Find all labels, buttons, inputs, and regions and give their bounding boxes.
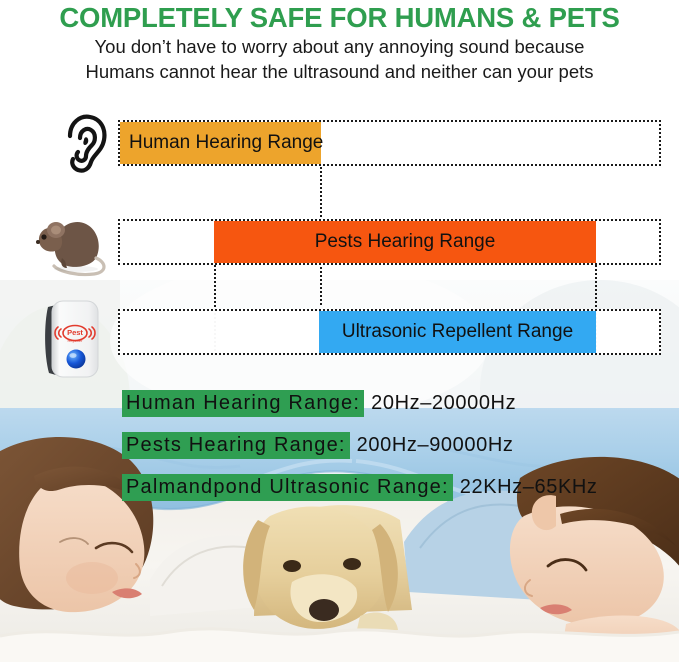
legend-value-human: 20Hz–20000Hz: [364, 392, 516, 414]
legend-value-ultrasonic: 22KHz–65KHz: [453, 476, 598, 498]
legend-row-pests: Pests Hearing Range:200Hz–90000Hz: [122, 434, 513, 457]
legend-label-ultrasonic: Palmandpond Ultrasonic Range:: [122, 474, 453, 501]
legend-row-human: Human Hearing Range:20Hz–20000Hz: [122, 392, 516, 415]
legend: Human Hearing Range:20Hz–20000Hz Pests H…: [0, 0, 679, 520]
legend-label-human: Human Hearing Range:: [122, 390, 364, 417]
legend-row-ultrasonic: Palmandpond Ultrasonic Range:22KHz–65KHz: [122, 476, 598, 499]
legend-value-pests: 200Hz–90000Hz: [350, 434, 514, 456]
legend-label-pests: Pests Hearing Range:: [122, 432, 350, 459]
infographic-page: COMPLETELY SAFE FOR HUMANS & PETS You do…: [0, 0, 679, 662]
